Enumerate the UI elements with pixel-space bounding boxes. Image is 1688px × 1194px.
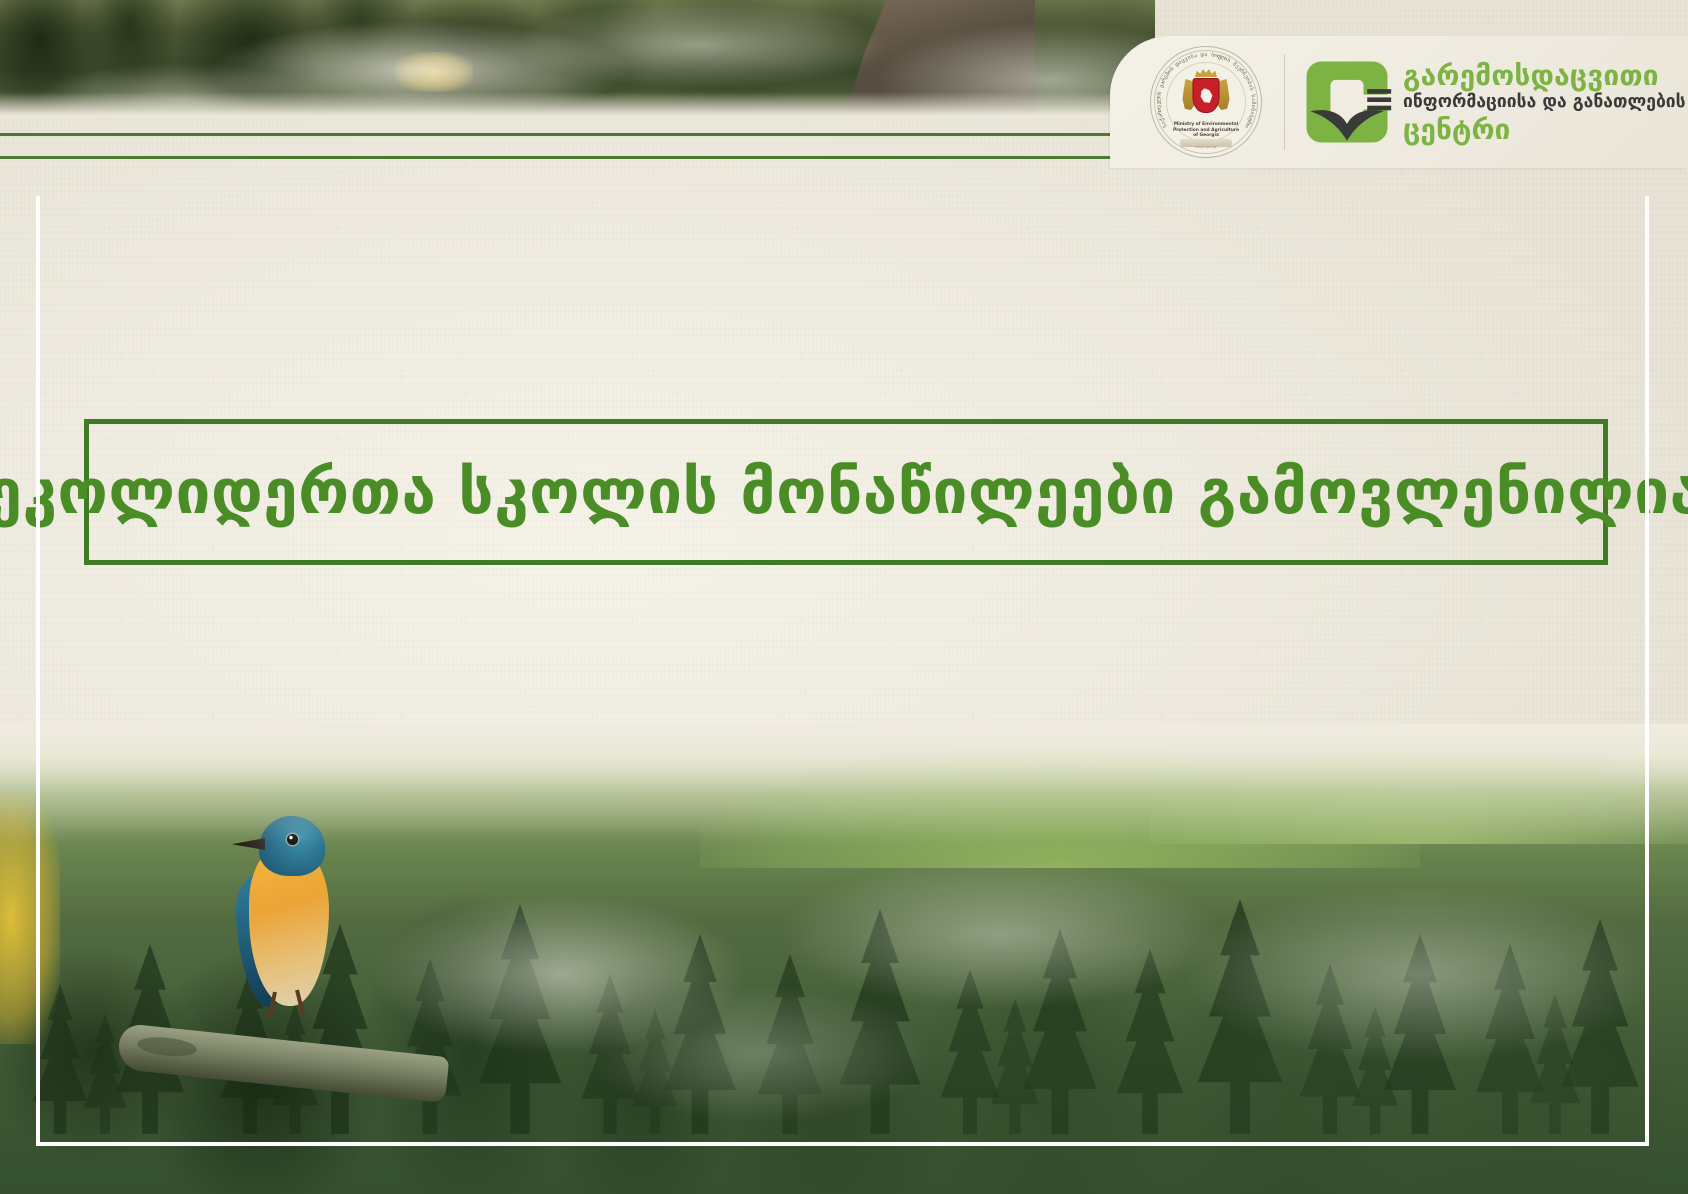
eiec-line-2: ინფორმაციისა და განათლების [1403, 94, 1686, 112]
top-photo-bottom-fade [0, 92, 1155, 118]
seal-english-text: Ministry of Environmental Protection and… [1151, 122, 1261, 139]
eiec-logo-mark-icon [1301, 56, 1393, 148]
poster-canvas: საქართველოს გარემოს დაცვისა და სოფლის მე… [0, 0, 1688, 1194]
ministry-seal-icon: საქართველოს გარემოს დაცვისა და სოფლის მე… [1150, 46, 1262, 158]
bottom-forest-photo [0, 724, 1688, 1194]
eiec-line-3: ცენტრი [1403, 116, 1686, 144]
logo-divider [1284, 54, 1285, 150]
title-box: ეკოლიდერთა სკოლის მონაწილეები გამოვლენილ… [84, 419, 1608, 565]
bottom-photo-top-fade [0, 724, 1688, 844]
seal-shield-icon [1193, 78, 1220, 113]
page-title: ეკოლიდერთა სკოლის მონაწილეები გამოვლენილ… [0, 461, 1688, 523]
header-rule-bottom [0, 156, 1112, 159]
eiec-logo: გარემოსდაცვითი ინფორმაციისა და განათლები… [1301, 56, 1686, 148]
seal-crest [1178, 75, 1234, 125]
seal-en-line3: of Georgia [1151, 133, 1261, 139]
seal-url: mepa.gov.ge [1151, 145, 1261, 149]
eiec-logo-text: გარემოსდაცვითი ინფორმაციისა და განათლები… [1403, 60, 1686, 144]
logo-panel: საქართველოს გარემოს დაცვისა და სოფლის მე… [1110, 36, 1688, 168]
top-forest-photo-strip [0, 0, 1155, 118]
eiec-line-1: გარემოსდაცვითი [1403, 62, 1686, 90]
header-rule-top [0, 133, 1112, 136]
